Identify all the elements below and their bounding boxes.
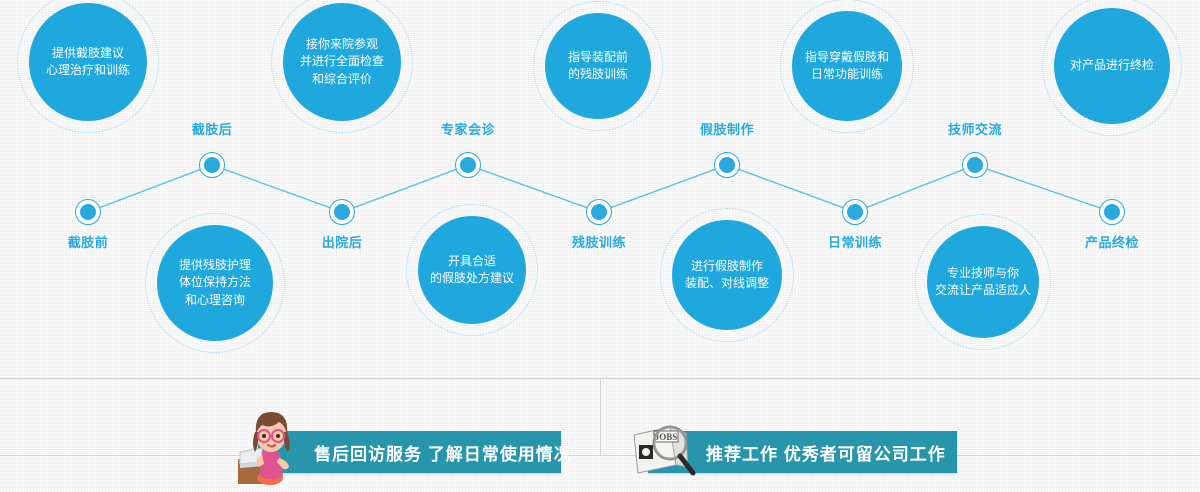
timeline-node-label: 截肢后 xyxy=(192,119,233,138)
info-bubble-text: 提供截肢建议 心理治疗和训练 xyxy=(40,45,136,80)
info-bubble[interactable]: 开具合适 的假肢处方建议 xyxy=(418,216,526,324)
info-bubble-text: 开具合适 的假肢处方建议 xyxy=(424,253,520,288)
timeline-node[interactable] xyxy=(842,199,868,225)
timeline-node-label: 日常训练 xyxy=(828,232,882,251)
timeline-node-label: 产品终检 xyxy=(1085,232,1139,251)
timeline-node-label: 出院后 xyxy=(322,232,363,251)
info-bubble-text: 提供残肢护理 体位保持方法 和心理咨询 xyxy=(173,257,257,309)
timeline-node-label: 技师交流 xyxy=(948,119,1002,138)
info-bubble[interactable]: 指导装配前 的残肢训练 xyxy=(545,13,651,119)
timeline-node[interactable] xyxy=(714,152,740,178)
promo-banner[interactable]: 售后回访服务 了解日常使用情况 xyxy=(258,431,561,473)
promo-banner-text: 售后回访服务 了解日常使用情况 xyxy=(314,440,572,465)
info-bubble[interactable]: 专业技师与你 交流让产品适应人 xyxy=(927,226,1039,338)
info-bubble[interactable]: 提供残肢护理 体位保持方法 和心理咨询 xyxy=(157,225,273,341)
info-bubble[interactable]: 对产品进行终检 xyxy=(1054,8,1170,124)
timeline-node[interactable] xyxy=(1099,199,1125,225)
timeline-node[interactable] xyxy=(75,199,101,225)
timeline-node-label: 假肢制作 xyxy=(700,119,754,138)
info-bubble-text: 专业技师与你 交流让产品适应人 xyxy=(929,265,1037,300)
timeline-node-label: 残肢训练 xyxy=(572,232,626,251)
divider-vertical xyxy=(600,378,601,455)
timeline-node[interactable] xyxy=(199,152,225,178)
info-bubble[interactable]: 接你来院参观 并进行全面检查 和综合评价 xyxy=(283,3,401,121)
timeline-node-label: 截肢前 xyxy=(68,232,109,251)
timeline-node[interactable] xyxy=(329,199,355,225)
jobs-newspaper-magnifier-icon: JOBS xyxy=(630,415,696,484)
timeline-node[interactable] xyxy=(586,199,612,225)
timeline-node[interactable] xyxy=(455,152,481,178)
info-bubble[interactable]: 提供截肢建议 心理治疗和训练 xyxy=(29,3,147,121)
info-bubble-text: 接你来院参观 并进行全面检查 和综合评价 xyxy=(294,36,390,88)
timeline-node[interactable] xyxy=(962,152,988,178)
divider-mid xyxy=(0,455,1200,456)
info-bubble-text: 对产品进行终检 xyxy=(1064,57,1160,74)
info-bubble-text: 指导穿戴假肢和 日常功能训练 xyxy=(799,49,895,84)
info-bubble-text: 指导装配前 的残肢训练 xyxy=(562,49,634,84)
info-bubble-text: 进行假肢制作 装配、对线调整 xyxy=(679,258,775,293)
woman-at-desk-icon xyxy=(232,408,294,491)
info-bubble[interactable]: 指导穿戴假肢和 日常功能训练 xyxy=(792,11,902,121)
timeline-node-label: 专家会诊 xyxy=(441,119,495,138)
info-bubble[interactable]: 进行假肢制作 装配、对线调整 xyxy=(672,220,782,330)
promo-banner-text: 推荐工作 优秀者可留公司工作 xyxy=(706,440,946,465)
